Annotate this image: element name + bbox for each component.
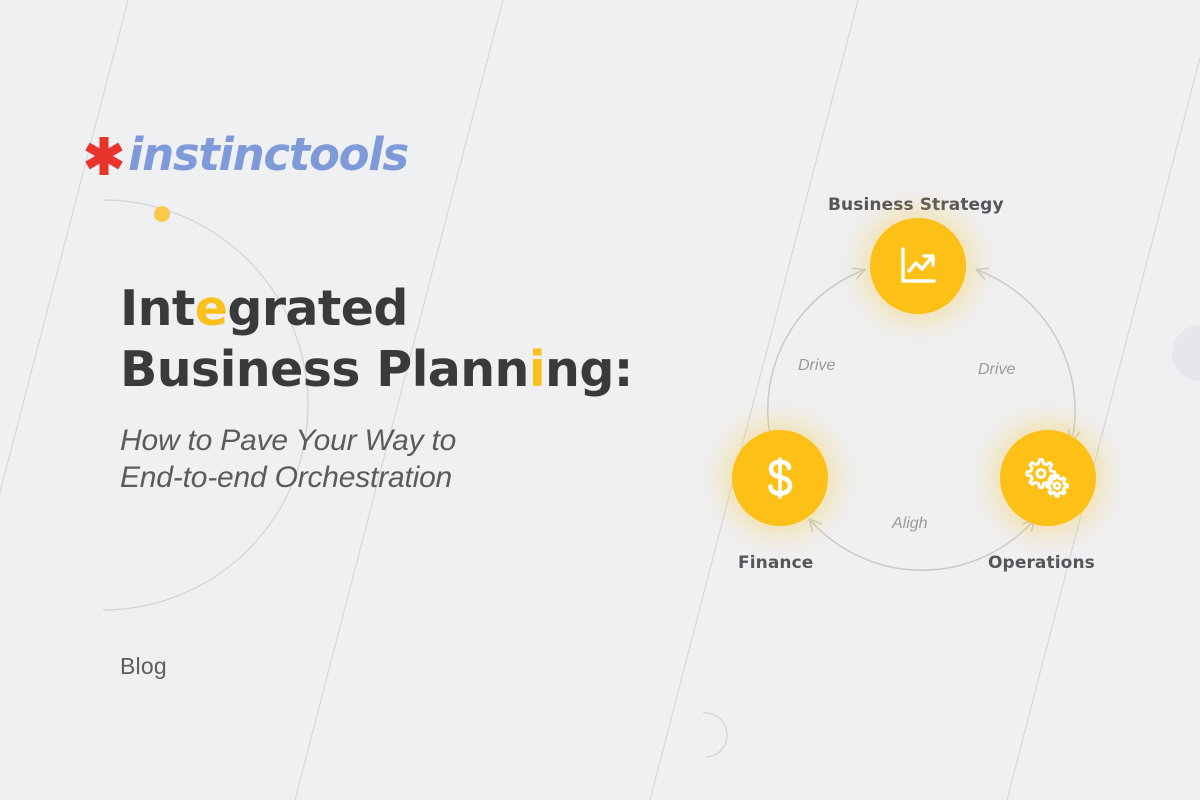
dollar-sign-icon (757, 455, 803, 501)
title-seg-1a: Int (120, 280, 195, 337)
page-subtitle: How to Pave Your Way to End-to-end Orche… (120, 422, 740, 496)
decor-small-arc (703, 713, 727, 757)
edge-arrow-strategy-operations (977, 270, 1075, 441)
slide-canvas: instinctools Integrated Business Plannin… (0, 0, 1200, 800)
edge-label-align-bottom: Aligh (892, 515, 928, 533)
node-label-business-strategy: Business Strategy (828, 195, 1004, 215)
title-seg-2b: ng: (545, 341, 633, 398)
title-seg-1b: grated (227, 280, 407, 337)
node-label-finance: Finance (738, 553, 813, 573)
asterisk-icon (82, 134, 126, 178)
diagram-node-finance[interactable] (732, 430, 828, 526)
diagram-node-operations[interactable] (1000, 430, 1096, 526)
title-line-2: Business Planning: (120, 341, 633, 398)
title-highlight-i: i (529, 341, 545, 398)
decor-right-blob (1172, 325, 1200, 381)
decor-accent-dot (154, 206, 170, 222)
cycle-diagram: Business Strategy Finance (690, 170, 1160, 600)
diagram-node-business-strategy[interactable] (870, 218, 966, 314)
edge-label-drive-right: Drive (978, 361, 1015, 379)
title-highlight-e: e (195, 280, 228, 337)
blog-label: Blog (120, 653, 167, 680)
node-label-operations: Operations (988, 553, 1095, 573)
subtitle-line-2: End-to-end Orchestration (120, 461, 452, 494)
page-title: Integrated Business Planning: (120, 278, 740, 400)
edge-arrow-finance-strategy (768, 270, 864, 441)
subtitle-line-1: How to Pave Your Way to (120, 424, 456, 457)
gears-icon (1023, 455, 1073, 501)
chart-trending-up-icon (895, 243, 941, 289)
logo-wordmark: instinctools (128, 132, 408, 177)
brand-logo[interactable]: instinctools (82, 118, 408, 190)
title-seg-2a: Business Plann (120, 341, 529, 398)
edge-label-drive-left: Drive (798, 357, 835, 375)
headline-block: Integrated Business Planning: How to Pav… (120, 278, 740, 496)
title-line-1: Integrated (120, 280, 408, 337)
